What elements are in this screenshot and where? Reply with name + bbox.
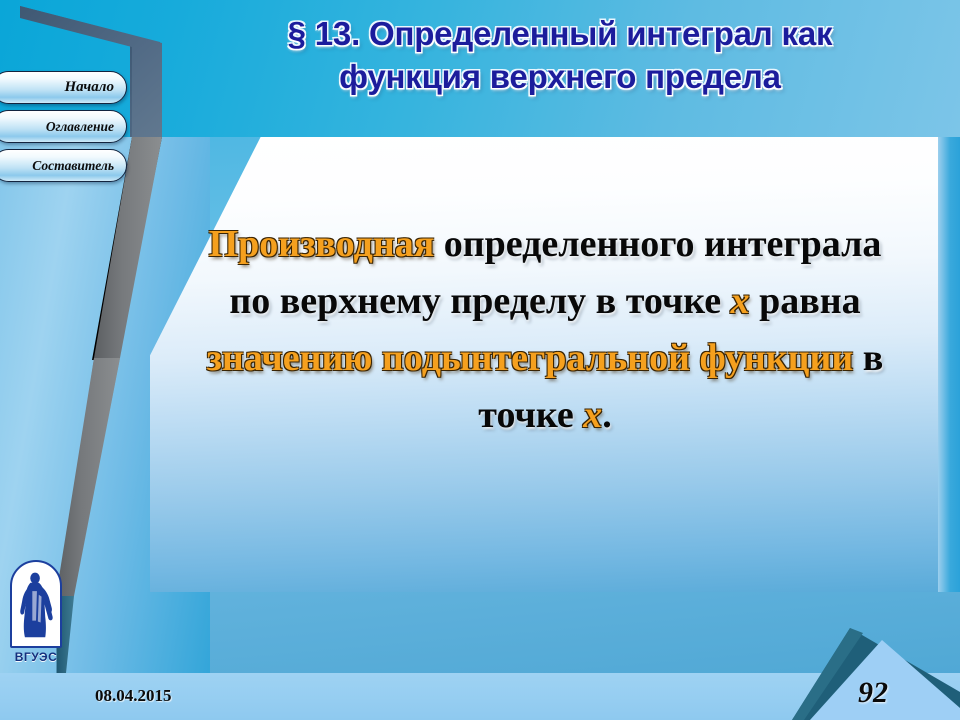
corner-decoration bbox=[700, 580, 960, 720]
nav-button-sostavitel-label: Составитель bbox=[32, 158, 114, 174]
page-title: § 13. Определенный интеграл как функция … bbox=[180, 12, 940, 98]
page-title-line-1: § 13. Определенный интеграл как bbox=[180, 12, 940, 55]
body-statement: Производная определенного интеграла по в… bbox=[186, 216, 904, 444]
nav-button-oglavlenie[interactable]: Оглавление bbox=[0, 110, 127, 143]
body-segment-7: . bbox=[602, 394, 612, 436]
slide-canvas: § 13. Определенный интеграл как функция … bbox=[0, 0, 960, 720]
vgues-logo: ВГУЭС bbox=[10, 560, 62, 664]
vgues-emblem-icon bbox=[10, 560, 62, 648]
nav-button-oglavlenie-label: Оглавление bbox=[46, 119, 114, 135]
navigation-buttons: Начало Оглавление Составитель bbox=[0, 71, 127, 188]
nav-button-sostavitel[interactable]: Составитель bbox=[0, 149, 127, 182]
page-title-line-2: функция верхнего предела bbox=[180, 55, 940, 98]
body-segment-0: Производная bbox=[209, 223, 435, 265]
nav-button-nachalo-label: Начало bbox=[64, 79, 114, 96]
body-segment-4: значению подынтегральной функции bbox=[207, 337, 854, 379]
body-segment-3: равна bbox=[750, 280, 861, 322]
page-number: 92 bbox=[858, 676, 888, 710]
body-segment-6: x bbox=[583, 394, 602, 436]
right-edge-strip bbox=[938, 137, 960, 592]
nav-button-nachalo[interactable]: Начало bbox=[0, 71, 127, 104]
body-segment-2: x bbox=[731, 280, 750, 322]
slide-date: 08.04.2015 bbox=[95, 686, 172, 706]
vgues-logo-label: ВГУЭС bbox=[10, 650, 62, 664]
